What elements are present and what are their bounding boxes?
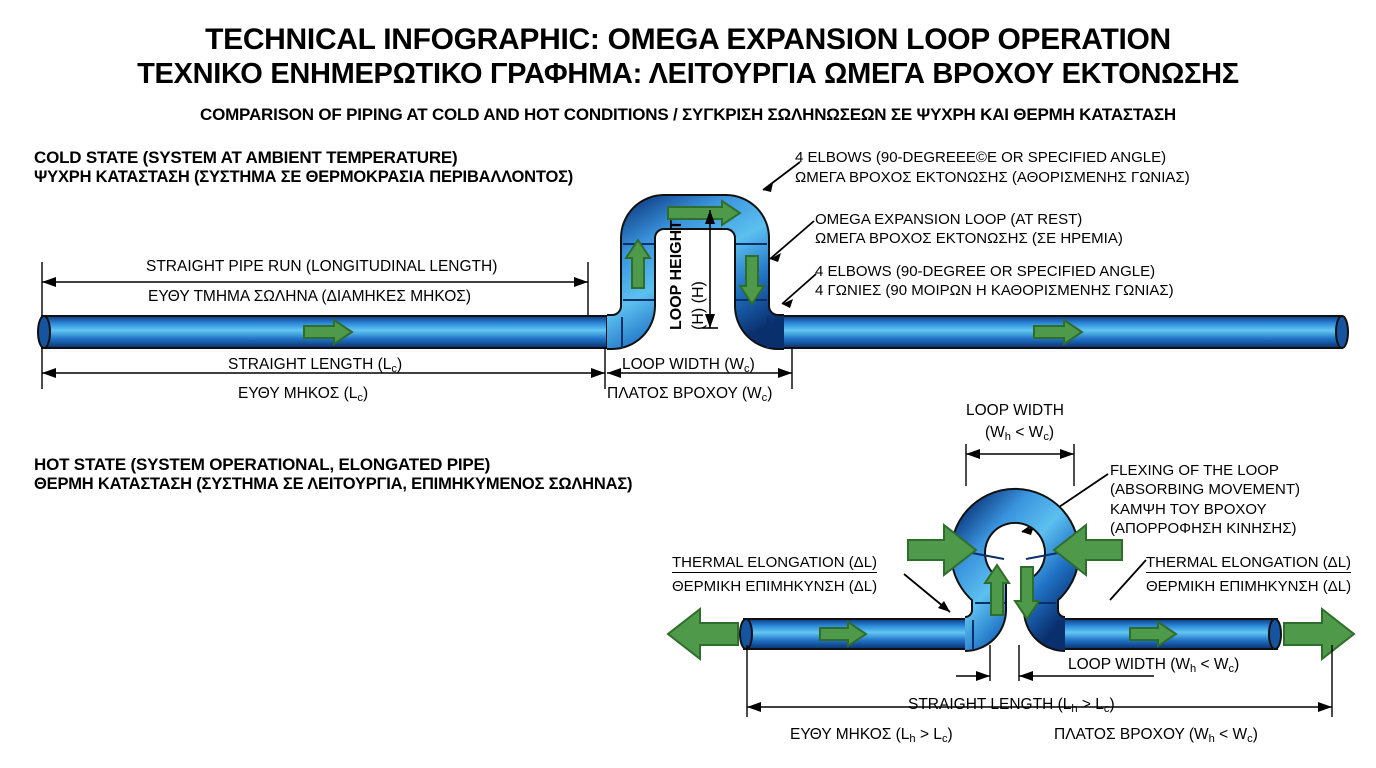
- page-subtitle: COMPARISON OF PIPING AT COLD AND HOT CON…: [0, 105, 1376, 125]
- cold-anno-elbows-top-en: 4 ELBOWS (90-DEGREEE©E OR SPECIFIED ANGL…: [795, 148, 1166, 167]
- hot-elong-left-en: THERMAL ELONGATION (ΔL): [672, 554, 877, 573]
- cold-dim-height-arrow: [700, 208, 720, 330]
- hot-state-label-en: HOT STATE (SYSTEM OPERATIONAL, ELONGATED…: [34, 455, 490, 475]
- cold-dim-height-label: LOOP HEIGHT: [668, 220, 686, 330]
- hot-elong-right-el: ΘΕΡΜΙΚΗ ΕΠΙΜΗΚΥΝΣΗ (ΔL): [1146, 578, 1351, 595]
- cold-state-label-en: COLD STATE (SYSTEM AT AMBIENT TEMPERATUR…: [34, 148, 458, 168]
- hot-leader-elong-right: [1106, 556, 1150, 606]
- hot-top-loopwidth-label: LOOP WIDTH: [966, 402, 1064, 420]
- hot-elong-left-el: ΘΕΡΜΙΚΗ ΕΠΙΜΗΚΥΝΣΗ (ΔL): [672, 578, 877, 595]
- hot-leader-elong-left: [900, 570, 960, 618]
- hot-state-label-el: ΘΕΡΜΗ ΚΑΤΑΣΤΑΣΗ (ΣΥΣΤΗΜΑ ΣΕ ΛΕΙΤΟΥΡΓΙΑ, …: [34, 475, 632, 494]
- page-title-el: ΤΕΧΝΙΚΟ ΕΝΗΜΕΡΩΤΙΚΟ ΓΡΑΦΗΜΑ: ΛΕΙΤΟΥΡΓΙΑ …: [0, 59, 1376, 89]
- hot-dim-bottom-arrows: [744, 645, 1364, 735]
- page-title-en: TECHNICAL INFOGRAPHIC: OMEGA EXPANSION L…: [0, 24, 1376, 56]
- hot-elong-right-en: THERMAL ELONGATION (ΔL): [1146, 554, 1351, 573]
- cold-dim-bottom-arrows: [40, 345, 800, 393]
